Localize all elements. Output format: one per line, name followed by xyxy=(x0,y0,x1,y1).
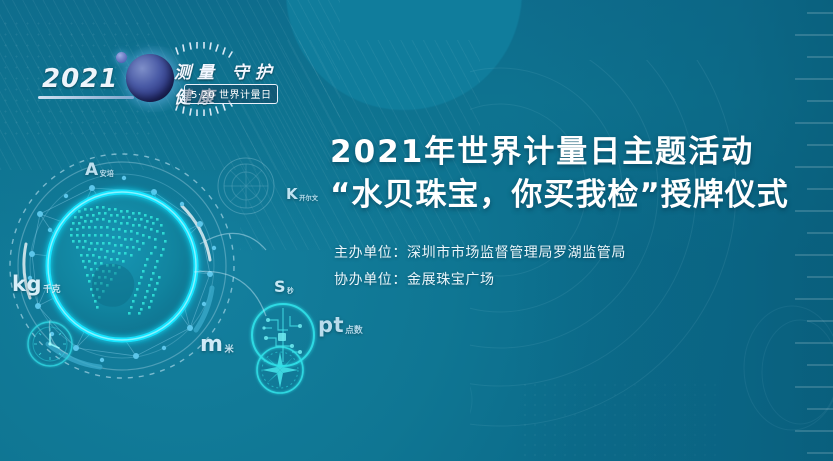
unit-symbol: S xyxy=(274,277,286,296)
organizer-block: 主办单位：深圳市市场监督管理局罗湖监管局 协办单位：金展珠宝广场 xyxy=(334,240,626,293)
unit-symbol: m xyxy=(200,332,223,357)
unit-symbol: kg xyxy=(12,272,42,296)
unit-symbol: pt xyxy=(318,313,344,337)
dial-gauge-icon xyxy=(218,158,274,214)
event-title-line2: “水贝珠宝，你买我检”授牌仪式 xyxy=(330,175,810,215)
unit-symbol: K xyxy=(286,185,298,203)
logo-year: 2021 xyxy=(42,64,118,94)
title-block: 2021年世界计量日主题活动 “水贝珠宝，你买我检”授牌仪式 xyxy=(330,134,810,215)
unit-name: 开尔文 xyxy=(299,195,318,202)
unit-label-kelvin: K开尔文 xyxy=(286,185,318,203)
connector-arc-decor xyxy=(190,262,300,342)
world-metrology-day-logo: 2021 测量 守护 健康 5·20 世界计量日 xyxy=(28,40,290,118)
ruler-ticks-decor xyxy=(787,0,833,461)
unit-name: 秒 xyxy=(287,287,294,295)
event-banner: A安培 kg千克 K开尔文 S秒 m米 pt点数 2021 xyxy=(0,0,833,461)
unit-symbol: A xyxy=(85,160,99,180)
logo-date-badge: 5·20 世界计量日 xyxy=(184,84,278,104)
unit-label-second: S秒 xyxy=(274,277,294,296)
unit-label-kilogram: kg千克 xyxy=(12,272,61,296)
unit-label-point: pt点数 xyxy=(318,313,363,337)
sphere-icon xyxy=(126,54,174,102)
logo-underline xyxy=(38,96,134,99)
unit-name: 千克 xyxy=(43,285,61,295)
unit-label-meter: m米 xyxy=(200,332,234,357)
logo-small-sphere-icon xyxy=(116,52,127,63)
unit-name: 米 xyxy=(224,344,233,355)
co-organizer-line: 协办单位：金展珠宝广场 xyxy=(334,267,626,294)
event-title-line1: 2021年世界计量日主题活动 xyxy=(330,134,810,171)
organizer-line: 主办单位：深圳市市场监督管理局罗湖监管局 xyxy=(334,240,626,267)
unit-name: 安培 xyxy=(100,169,114,178)
unit-label-ampere: A安培 xyxy=(85,160,114,180)
unit-name: 点数 xyxy=(345,326,363,336)
